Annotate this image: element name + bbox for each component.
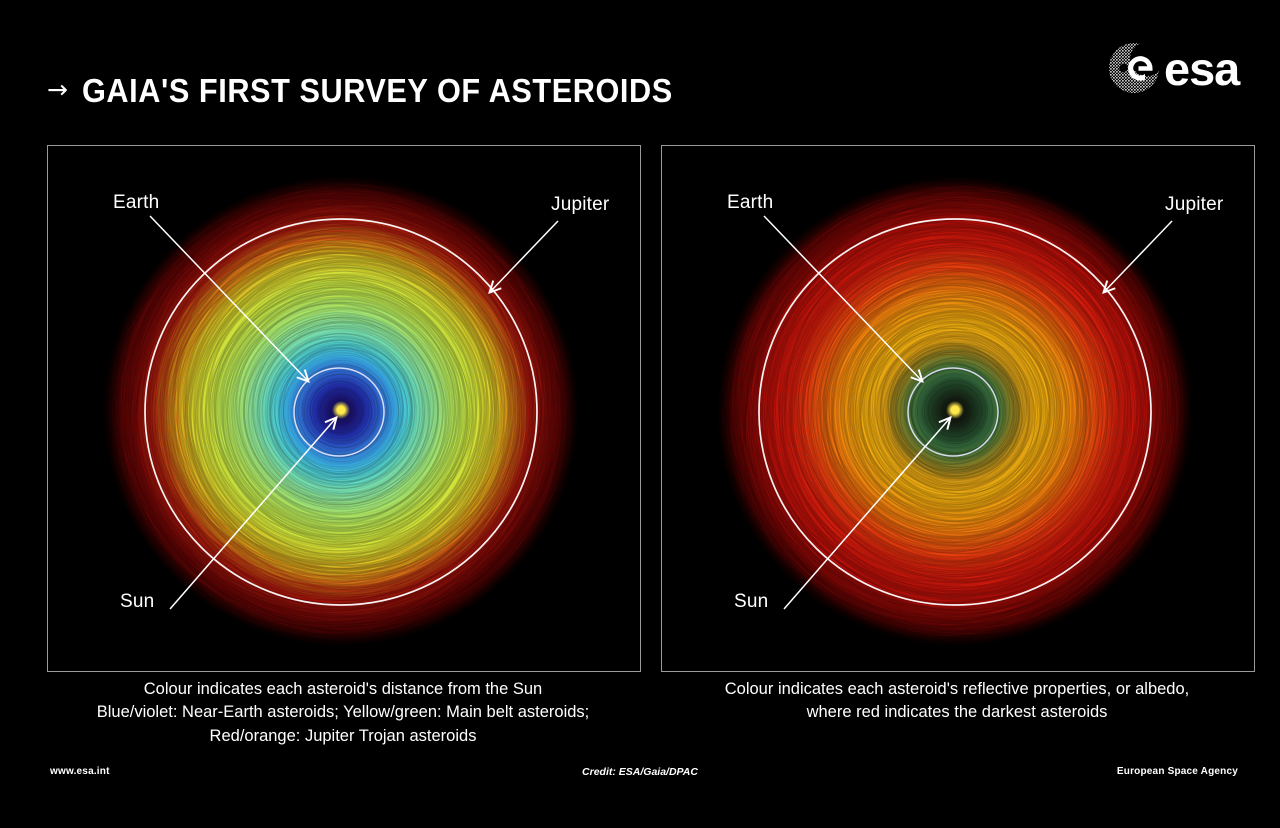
earth-label: Earth [727,192,773,214]
caption-line: Red/orange: Jupiter Trojan asteroids [47,725,639,748]
page-footer: www.esa.int Credit: ESA/Gaia/DPAC Europe… [0,762,1280,792]
caption-line: Blue/violet: Near-Earth asteroids; Yello… [47,701,639,724]
sun-label: Sun [734,591,768,613]
agency-name: European Space Agency [1117,766,1238,777]
sun-marker [951,406,958,413]
caption-line: where red indicates the darkest asteroid… [661,701,1253,724]
albedo-panel: Earth Jupiter Sun [661,145,1255,672]
sun-label: Sun [120,591,154,613]
image-credit: Credit: ESA/Gaia/DPAC [0,766,1280,778]
jupiter-label: Jupiter [551,194,609,216]
caption-line: Colour indicates each asteroid's reflect… [661,678,1253,701]
distance-panel: Earth Jupiter Sun [47,145,641,672]
earth-label: Earth [113,192,159,214]
jupiter-label: Jupiter [1165,194,1223,216]
distance-panel-caption: Colour indicates each asteroid's distanc… [47,678,639,748]
caption-line: Colour indicates each asteroid's distanc… [47,678,639,701]
albedo-panel-caption: Colour indicates each asteroid's reflect… [661,678,1253,725]
sun-marker [337,406,344,413]
